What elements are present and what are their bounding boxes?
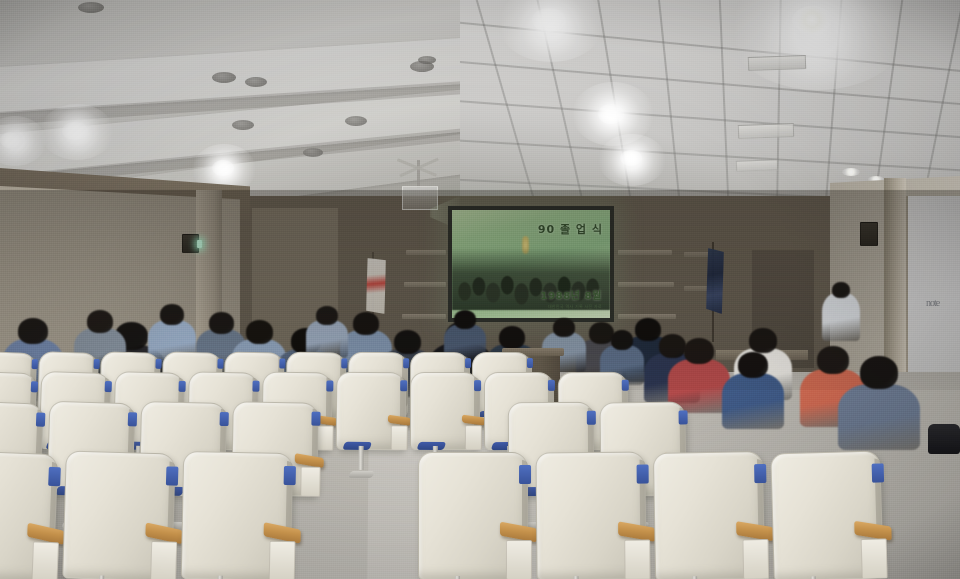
seat-armrest-side (624, 539, 650, 579)
downlight-lit-icon (792, 6, 832, 34)
seat-hinge-accent (284, 466, 296, 485)
seat-armrest-side (506, 540, 532, 579)
seat-hinge-accent (679, 410, 688, 424)
downlight-off-icon (303, 148, 323, 157)
person-torso (838, 384, 920, 450)
auditorium-photo: note 90 졸 업 식 1988년 8월 대한민국 역사 기록 사진 자료 (0, 0, 960, 579)
seat-hinge-accent (637, 464, 649, 483)
ceiling-lamp-fixture (738, 123, 794, 139)
seat-hinge-accent (587, 411, 596, 425)
person-head (832, 282, 850, 298)
wall-slat (402, 314, 446, 319)
projector-icon (402, 186, 438, 210)
flag-left (366, 258, 386, 314)
ceiling-lamp-fixture (748, 55, 806, 71)
seat[interactable] (770, 451, 881, 579)
seat-hinge-accent (754, 464, 766, 483)
downlight-lit-icon (620, 150, 642, 166)
slide-title: 90 졸 업 식 (538, 221, 603, 237)
person-head (394, 330, 421, 354)
seat[interactable] (0, 450, 56, 579)
person-head (738, 352, 768, 378)
whiteboard-note: note (926, 298, 942, 310)
ceiling-grid-line (775, 0, 781, 215)
audience-member (838, 356, 920, 455)
seat-foot (348, 471, 375, 478)
seat-hinge-accent (94, 359, 100, 369)
seat-hinge-accent (279, 358, 285, 368)
person-torso (822, 293, 860, 341)
seat-hinge-accent (31, 381, 38, 392)
seat-armrest-side (861, 538, 888, 579)
seat-hinge-accent (474, 380, 481, 391)
downlight-off-icon (232, 120, 254, 130)
projection-screen: 90 졸 업 식 1988년 8월 대한민국 역사 기록 사진 자료 (452, 210, 610, 318)
person-head (684, 338, 714, 364)
person-head (246, 320, 273, 344)
seat[interactable] (62, 450, 174, 579)
indicator-light-icon (197, 240, 202, 248)
projector-mount (417, 160, 420, 188)
seat-hinge-accent (220, 412, 229, 426)
audience-member (822, 282, 860, 346)
seat-hinge-accent (465, 358, 471, 368)
seat-hinge-accent (128, 412, 137, 426)
seat[interactable] (418, 452, 526, 578)
seat-hinge-accent (155, 359, 161, 369)
seat[interactable] (410, 372, 478, 448)
seat-hinge-accent (527, 358, 533, 368)
seat-hinge-accent (178, 381, 185, 392)
downlight-off-icon (345, 116, 367, 126)
seat-pedestal (358, 446, 363, 470)
person-head (860, 356, 898, 389)
seat-hinge-accent (622, 380, 629, 391)
downlight-off-icon (418, 56, 436, 64)
person-head (353, 312, 379, 335)
seat-hinge-accent (48, 467, 61, 486)
seat[interactable] (535, 452, 644, 579)
downlight-off-icon (212, 72, 236, 83)
person-head (160, 304, 184, 325)
seat-pedestal (98, 575, 104, 579)
seat[interactable] (181, 451, 291, 579)
seat-armrest-side (742, 539, 769, 579)
ceiling-grid-line (718, 0, 730, 215)
person-head (316, 306, 338, 325)
audience-member (722, 352, 784, 434)
person-head (87, 310, 113, 333)
flag-right (706, 248, 724, 314)
speaker-icon (860, 222, 878, 246)
downlight-lit-icon (532, 8, 566, 32)
person-head (749, 328, 777, 353)
seat-hinge-accent (341, 358, 347, 368)
person-head (209, 312, 234, 334)
downlight-lit-icon (0, 132, 20, 148)
wall-slat (618, 282, 674, 287)
seat-hinge-accent (519, 465, 531, 484)
seat-hinge-accent (166, 466, 179, 485)
seat-hinge-accent (105, 381, 112, 392)
wall-slat (406, 250, 446, 255)
wall-slat (618, 250, 672, 255)
person-head (553, 318, 575, 337)
person-head (611, 330, 633, 350)
seat-armrest-side (300, 466, 320, 496)
wall-slat (404, 282, 446, 287)
ceiling-grid-line (656, 0, 684, 215)
downlight-lit-icon (212, 160, 234, 176)
person-head (499, 326, 525, 349)
seat-hinge-accent (217, 359, 223, 369)
person-head (454, 310, 476, 329)
seat-hinge-accent (548, 380, 555, 391)
ceiling-lamp-fixture (736, 159, 778, 171)
seat-armrest-side (465, 425, 482, 450)
seat-hinge-accent (311, 412, 320, 426)
downlight-off-icon (245, 77, 267, 87)
seat-armrest-side (150, 541, 177, 579)
person-head (18, 318, 48, 344)
seat[interactable] (336, 372, 405, 449)
seat-hinge-accent (32, 359, 38, 369)
seat-cushion (342, 442, 372, 450)
person-torso (722, 373, 784, 429)
ceiling-grid-line (460, 136, 960, 174)
seat-armrest-side (269, 541, 296, 579)
seat-armrest-side (316, 425, 333, 450)
seat-pedestal (217, 576, 223, 579)
seat-cushion (417, 442, 447, 450)
downlight-off-icon (78, 2, 104, 13)
seat-hinge-accent (36, 412, 46, 426)
seat-armrest-side (391, 425, 408, 450)
slide-credit: 대한민국 역사 기록 사진 자료 (548, 304, 602, 310)
seat[interactable] (653, 451, 763, 579)
downlight-lit-icon (842, 168, 860, 176)
seat-hinge-accent (326, 380, 333, 391)
seat-armrest-side (31, 541, 59, 579)
bag (928, 424, 960, 454)
seat-hinge-accent (252, 381, 259, 392)
seat-hinge-accent (403, 358, 409, 368)
downlight-lit-icon (598, 104, 624, 124)
slide-date: 1988년 8월 (541, 287, 602, 302)
seat-hinge-accent (872, 463, 885, 482)
downlight-lit-icon (62, 122, 88, 140)
seat-hinge-accent (400, 380, 407, 391)
